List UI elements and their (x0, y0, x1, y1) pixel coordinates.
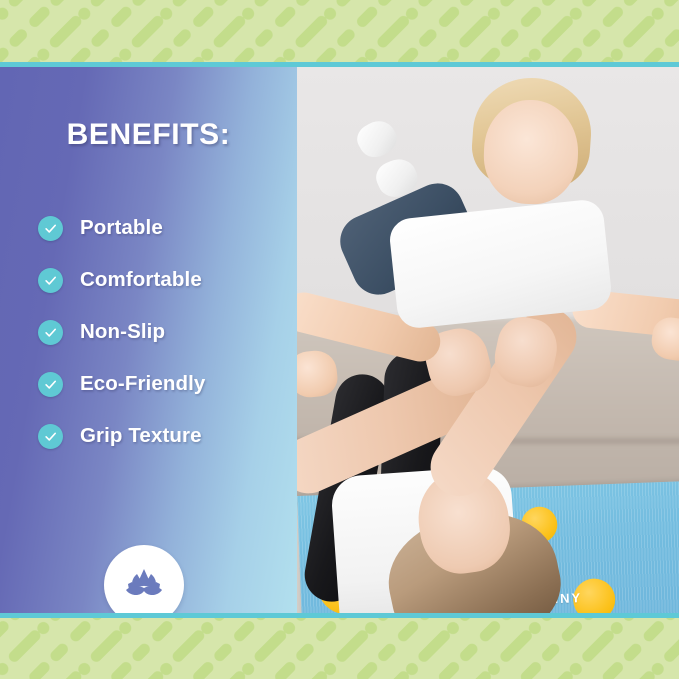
benefits-list: Portable Comfortable (38, 202, 288, 462)
product-lifestyle-photo: CURR NNY (297, 67, 679, 613)
photo-scene: CURR NNY (297, 67, 679, 613)
benefit-item-eco-friendly: Eco-Friendly (38, 358, 288, 410)
content-card: BENEFITS: Portable (0, 62, 679, 618)
lotus-flower-icon (119, 560, 169, 610)
benefit-label: Portable (80, 216, 163, 240)
brand-logo (104, 545, 184, 613)
benefit-item-non-slip: Non-Slip (38, 306, 288, 358)
benefit-label: Non-Slip (80, 320, 165, 344)
check-circle-icon (38, 424, 63, 449)
check-circle-icon (38, 268, 63, 293)
benefit-item-grip-texture: Grip Texture (38, 410, 288, 462)
benefit-label: Comfortable (80, 268, 202, 292)
check-circle-icon (38, 320, 63, 345)
check-circle-icon (38, 216, 63, 241)
benefit-label: Grip Texture (80, 424, 202, 448)
benefit-item-portable: Portable (38, 202, 288, 254)
infographic-canvas: BENEFITS: Portable (0, 0, 679, 679)
benefit-item-comfortable: Comfortable (38, 254, 288, 306)
benefits-panel: BENEFITS: Portable (0, 67, 297, 613)
benefit-label: Eco-Friendly (80, 372, 205, 396)
check-circle-icon (38, 372, 63, 397)
benefits-heading: BENEFITS: (0, 118, 297, 152)
child-shirt (387, 198, 612, 330)
